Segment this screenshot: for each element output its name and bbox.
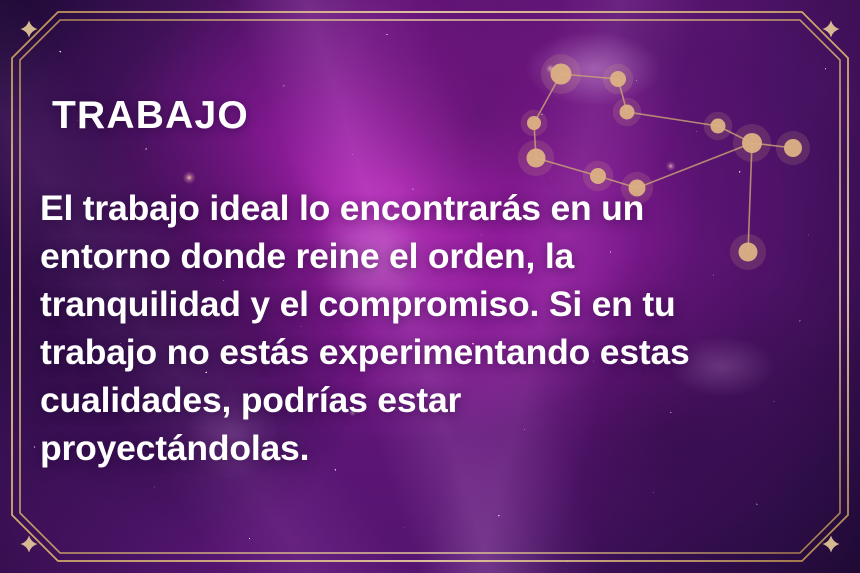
body-text-line: cualidades, podrías estar [40,376,830,424]
body-text-line: tranquilidad y el compromiso. Si en tu [40,280,830,328]
body-text-line: trabajo no estás experimentando estas [40,328,830,376]
body-text-line: El trabajo ideal lo encontrarás en un [40,184,830,232]
horoscope-card: TRABAJO El trabajo ideal lo encontrarás … [0,0,860,573]
text-content: TRABAJO El trabajo ideal lo encontrarás … [0,0,860,573]
body-text-line: entorno donde reine el orden, la [40,232,830,280]
horoscope-body-text: El trabajo ideal lo encontrarás en unent… [40,184,830,472]
page-title: TRABAJO [52,96,249,135]
body-text-line: proyectándolas. [40,424,830,472]
